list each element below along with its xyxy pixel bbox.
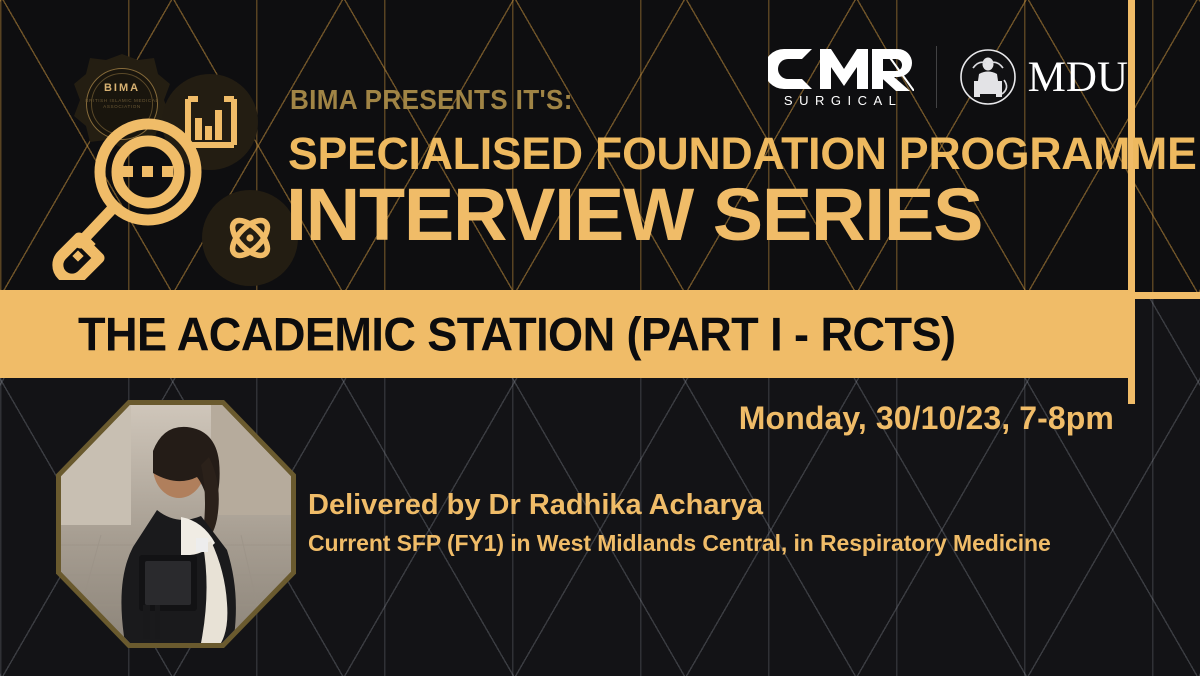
- logo-divider: [936, 46, 937, 108]
- seal-subtitle: BRITISH ISLAMIC MEDICAL ASSOCIATION: [70, 98, 174, 110]
- header-icon-cluster: BIMA BRITISH ISLAMIC MEDICAL ASSOCIATION: [52, 40, 292, 270]
- seal-name: BIMA: [70, 82, 174, 94]
- magnifying-glass-icon: [52, 112, 220, 280]
- gold-horizontal-rule-right: [1128, 292, 1200, 299]
- session-title: THE ACADEMIC STATION (PART I - RCTS): [78, 307, 955, 362]
- partner-logo-mdu: MDU: [959, 48, 1128, 106]
- mdu-wordmark: MDU: [1028, 56, 1128, 99]
- event-poster: BIMA BRITISH ISLAMIC MEDICAL ASSOCIATION: [0, 0, 1200, 676]
- cmr-subtitle: SURGICAL: [779, 93, 902, 108]
- mdu-crest-icon: [959, 48, 1017, 106]
- cmr-logo-icon: [768, 47, 914, 91]
- photo-illustration: [61, 405, 291, 643]
- title-line-2: INTERVIEW SERIES: [286, 178, 982, 252]
- kicker-text: BIMA PRESENTS IT'S:: [290, 84, 573, 116]
- speaker-role: Current SFP (FY1) in West Midlands Centr…: [308, 530, 1051, 557]
- partner-logos: SURGICAL MDU: [768, 46, 1128, 108]
- photo-image: [61, 405, 291, 643]
- partner-logo-cmr: SURGICAL: [768, 47, 914, 108]
- session-title-banner: THE ACADEMIC STATION (PART I - RCTS): [0, 290, 1128, 378]
- speaker-photo: [56, 400, 296, 648]
- speaker-name: Delivered by Dr Radhika Acharya: [308, 489, 763, 522]
- gold-vertical-rule-lower: [1128, 292, 1135, 382]
- gold-vertical-rule-tail: [1128, 378, 1135, 404]
- event-datetime: Monday, 30/10/23, 7-8pm: [739, 400, 1114, 437]
- atom-icon: [223, 211, 277, 265]
